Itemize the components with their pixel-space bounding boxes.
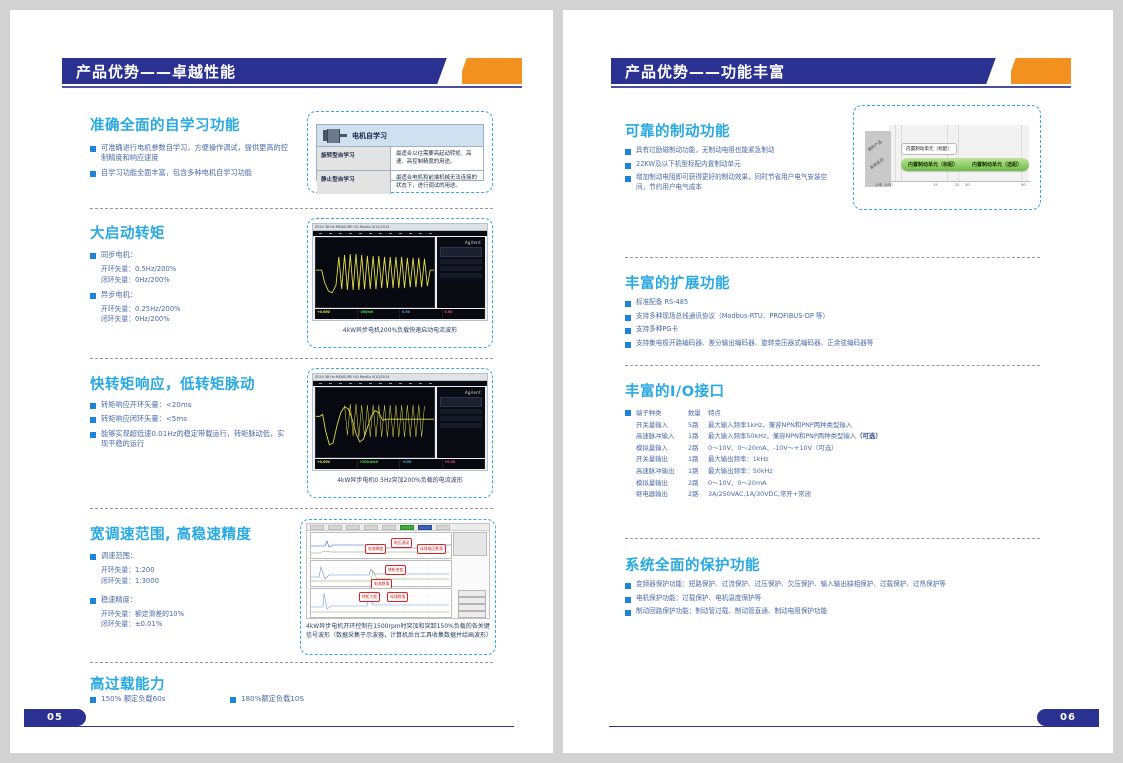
figure-caption-software-capture: 4kW异步电机开环控制在1500rpm时突加和突卸150%负载的各关键信号波形（… (306, 622, 490, 640)
bullet-square-icon (90, 598, 96, 604)
section-divider (90, 208, 493, 209)
bullet-text: 180%额定负载10S (241, 694, 304, 704)
bullet-square-icon (625, 583, 631, 589)
bullets-self-learning: 可准确进行电机参数自学习，方便操作调试，提供更高的控制精度和响应速度 自学习功能… (90, 143, 295, 182)
bullet-text: 转矩响应闭环矢量：<5ms (101, 414, 187, 424)
row-name: 旋转型自学习 (317, 147, 391, 170)
scope-measure-box (440, 247, 482, 257)
section-divider (90, 358, 493, 359)
left-page-header: 产品优势——卓越性能 (62, 58, 522, 84)
sub-line: 开环矢量：0.5Hz/200% (101, 264, 290, 274)
io-qty: 1路 (688, 431, 708, 440)
x-axis-title: 功率（kW） (875, 183, 895, 188)
x-tick-label: 22 (955, 183, 960, 187)
io-spec-text: 最大输入频率50kHz，兼容NPN和PNP两种类型输入 (708, 432, 856, 440)
software-button[interactable] (458, 611, 486, 618)
page-number-left: 05 (24, 709, 86, 726)
annotation-label: 转矩力矩 (359, 592, 380, 602)
annotation-label: 母线电压跌落 (417, 544, 446, 554)
list-item: 具有过励磁制动功能，无制动电阻也能紧急制动 (625, 146, 840, 156)
io-table-row: 开关量输出 1路 最大输出频率：1kHz (636, 454, 955, 463)
scope-channel-2: +200.0mV (358, 459, 401, 469)
io-qty: 2路 (688, 443, 708, 452)
io-type: 模拟量输出 (636, 478, 688, 487)
bullet-text: 转矩响应开环矢量：<20ms (101, 400, 192, 410)
sub-line: 闭环矢量：1:3000 (101, 576, 290, 586)
section-title-io: 丰富的I/O接口 (625, 380, 725, 401)
io-spec-note: （可选） (856, 432, 882, 440)
list-item: 异步电机： (90, 290, 290, 300)
bullet-text: 22KW及以下机型标配内置制动单元 (636, 160, 741, 170)
annotation-label: 电流瞬变 (365, 544, 386, 554)
table-header-row: 电机自学习 (317, 125, 483, 147)
bullet-square-icon (625, 328, 631, 334)
left-header-underline (62, 86, 522, 88)
bullet-text: 可准确进行电机参数自学习，方便操作调试，提供更高的控制精度和响应速度 (101, 143, 295, 164)
bullet-square-icon (90, 697, 96, 703)
io-header-qty: 数量 (688, 408, 708, 417)
sub-line: 闭环矢量：0Hz/200% (101, 314, 290, 324)
annotation-label: 电压波动 (391, 538, 412, 548)
sub-line: 闭环矢量：0Hz/200% (101, 275, 290, 285)
bullets-braking: 具有过励磁制动功能，无制动电阻也能紧急制动 22KW及以下机型标配内置制动单元 … (625, 146, 840, 196)
bullets-protection: 变频器保护功能：短路保护、过流保护、过压保护、欠压保护、输入输出缺相保护、过载保… (625, 580, 1045, 621)
bullet-square-icon (625, 597, 631, 603)
list-item: 可准确进行电机参数自学习，方便操作调试，提供更高的控制精度和响应速度 (90, 143, 295, 164)
io-qty: 5路 (688, 420, 708, 429)
bullet-square-icon (90, 171, 96, 177)
bullet-text: 能够实现超低速0.01Hz的稳定带载运行，转矩脉动低，实现平稳的运行 (101, 429, 290, 450)
gridline (895, 125, 896, 181)
bullet-square-icon (90, 146, 96, 152)
io-spec: 0～10V、0～20mA、-10V～+10V（可选） (708, 443, 838, 452)
sub-line: 开环矢量：额定滑差的10% (101, 609, 290, 619)
software-button[interactable] (458, 597, 486, 604)
bullet-square-icon (90, 554, 96, 560)
list-item: 同步电机： (90, 250, 290, 260)
io-qty: 2路 (688, 489, 708, 498)
bullet-text: 变频器保护功能：短路保护、过流保护、过压保护、欠压保护、输入输出缺相保护、过载保… (636, 580, 946, 590)
plot-area-3 (310, 588, 452, 618)
io-table-row: 开关量输入 5路 最大输入频率1kHz，兼容NPN和PNP两种类型输入 (636, 420, 955, 429)
group-label: 稳速精度： (101, 595, 137, 605)
section-divider (625, 365, 1040, 366)
io-header-spec: 特点 (708, 408, 721, 417)
bullet-square-icon (625, 315, 631, 321)
section-title-self-learning: 准确全面的自学习功能 (90, 114, 240, 135)
section-title-braking: 可靠的制动功能 (625, 120, 730, 141)
io-spec: 最大输出频率：1kHz (708, 454, 769, 463)
list-item: 22KW及以下机型标配内置制动单元 (625, 160, 840, 170)
list-item: 自学习功能全面丰富，包含多种电机自学习功能 (90, 168, 295, 178)
section-title-starting-torque: 大启动转矩 (90, 222, 165, 243)
list-item: 变频器保护功能：短路保护、过流保护、过压保护、欠压保护、输入输出缺相保护、过载保… (625, 580, 1045, 590)
scope-waveform-grid (315, 387, 435, 458)
bullets-torque-response: 转矩响应开环矢量：<20ms 转矩响应闭环矢量：<5ms 能够实现超低速0.01… (90, 400, 290, 454)
section-divider (625, 538, 1040, 539)
software-waveform-capture: 电流瞬变 电压波动 母线电压跌落 转矩突变 电流跌落 (306, 523, 490, 619)
group-label: 调速范围： (101, 551, 137, 561)
oscilloscope-screenshot-2: Z014 38 Hz MEASURE HQ MeaSu II/10/2014 A… (312, 373, 488, 471)
list-item: 能够实现超低速0.01Hz的稳定带载运行，转矩脉动低，实现平稳的运行 (90, 429, 290, 450)
io-table-row: 模拟量输入 2路 0～10V、0～20mA、-10V～+10V（可选） (636, 443, 955, 452)
group-label: 同步电机： (101, 250, 137, 260)
io-type: 模拟量输入 (636, 443, 688, 452)
section-divider (625, 257, 1040, 258)
annotation-label: 母线跌落 (387, 592, 408, 602)
bullets-overload: 150% 额定负载60s 180%额定负载10S (90, 694, 420, 708)
gridline (1021, 125, 1022, 181)
table-row: 旋转型自学习 最适合以往需要高起动转矩、高速、高控制精度的用途。 (317, 147, 483, 171)
right-page-header: 产品优势——功能丰富 (611, 58, 1071, 84)
io-spec: 最大输入频率1kHz，兼容NPN和PNP两种类型输入 (708, 420, 852, 429)
scope-menubar (313, 381, 487, 386)
header-orange-block (462, 58, 522, 84)
software-toolbar (307, 524, 489, 531)
scope-channel-1: +0.00V (315, 309, 358, 319)
bullet-square-icon (625, 610, 631, 616)
bullet-square-icon (90, 417, 96, 423)
scope-channel-4: 0.0V (443, 309, 486, 319)
list-item: 转矩响应开环矢量：<20ms (90, 400, 290, 410)
section-divider (90, 508, 493, 509)
left-header-title: 产品优势——卓越性能 (76, 61, 236, 82)
scope-channel-4: +0.0V (443, 459, 486, 469)
bullet-square-icon (90, 432, 96, 438)
table-row: 静止型自学习 最适合电机和前端机械无法连接的状态下，进行调试的用途。 (317, 171, 483, 194)
brake-unit-tag: 内置制动单元（标配） (901, 143, 957, 155)
list-item: 支持多种现场总线通讯协议（Modbus-RTU、PROFIBUS-DP 等） (625, 312, 945, 322)
scope-brand-label: Agilent (437, 237, 485, 245)
bullet-text: 标准配备 RS-485 (636, 298, 688, 308)
scope-measure-box (440, 273, 482, 278)
io-spec: 3A/250VAC,1A/30VDC,常开+常闭 (708, 489, 811, 498)
scope-titlebar: Z014 38 Hz MEASURE HQ MeaSu II/12/2014 (313, 224, 487, 231)
list-item: 180%额定负载10S (230, 694, 304, 704)
scope-measure-box (440, 416, 482, 421)
x-tick-label: 15 (933, 183, 938, 187)
scope-channel-1: +0.00V (315, 459, 358, 469)
bullets-speed-range: 调速范围： 开环矢量：1:200 闭环矢量：1:3000 稳速精度： 开环矢量：… (90, 551, 290, 630)
row-description: 最适合电机和前端机械无法连接的状态下，进行调试的用途。 (391, 171, 483, 194)
software-button[interactable] (458, 590, 486, 597)
scope-side-panel: Agilent (437, 387, 485, 458)
bullet-square-icon (625, 342, 631, 348)
x-tick-label: 90 (1021, 183, 1026, 187)
scope-measure-box (440, 259, 482, 264)
right-header-underline (611, 86, 1071, 88)
io-table-row: 继电器输出 2路 3A/250VAC,1A/30VDC,常开+常闭 (636, 489, 955, 498)
bar-label-optional: 内置制动单元（选配） (972, 161, 1022, 168)
list-item: 调速范围： (90, 551, 290, 561)
list-item: 电机保护功能：过载保护、电机温度保护等 (625, 594, 1045, 604)
x-axis (889, 181, 1031, 182)
bullet-text: 增加制动电阻即可获得更好的制动效果，同时节省用户电气安装空间，节约用户电气成本 (636, 173, 840, 192)
scope-titlebar: Z014 38 Hz MEASURE HQ MeaSu II/10/2014 (313, 374, 487, 381)
scope-measure-box (440, 409, 482, 414)
left-footer-line (24, 726, 514, 727)
scope-channel-3: 0.0V (400, 309, 443, 319)
page-number-label: 05 (47, 712, 63, 723)
bullet-text: 电机保护功能：过载保护、电机温度保护等 (636, 594, 761, 604)
brake-unit-bar: 内置制动单元（标配） 内置制动单元（选配） (901, 158, 1029, 171)
scope-channel-2: -200mV (358, 309, 401, 319)
io-spec: 最大输入频率50kHz，兼容NPN和PNP两种类型输入（可选） (708, 431, 882, 440)
x-tick-label: 30 (965, 183, 970, 187)
io-qty: 2路 (688, 478, 708, 487)
io-type: 继电器输出 (636, 489, 688, 498)
sub-line: 开环矢量：0.25Hz/200% (101, 304, 290, 314)
bullet-square-icon (230, 697, 236, 703)
section-title-expansion: 丰富的扩展功能 (625, 272, 730, 293)
bullet-square-icon (90, 293, 96, 299)
section-divider (90, 662, 493, 663)
list-item: 稳速精度： (90, 595, 290, 605)
io-table-row: 高速脉冲输出 1路 最大输出频率：50kHz (636, 466, 955, 475)
io-qty: 1路 (688, 454, 708, 463)
list-item: 标准配备 RS-485 (625, 298, 945, 308)
page-number-right: 06 (1037, 709, 1099, 726)
brochure-spread: 产品优势——卓越性能 准确全面的自学习功能 可准确进行电机参数自学习，方便操作调… (0, 0, 1123, 763)
bullets-starting-torque: 同步电机： 开环矢量：0.5Hz/200% 闭环矢量：0Hz/200% 异步电机… (90, 250, 290, 325)
section-title-protection: 系统全面的保护功能 (625, 554, 760, 575)
oscilloscope-screenshot-1: Z014 38 Hz MEASURE HQ MeaSu II/12/2014 A… (312, 223, 488, 321)
bullet-text: 具有过励磁制动功能，无制动电阻也能紧急制动 (636, 146, 774, 156)
right-header-title: 产品优势——功能丰富 (625, 61, 785, 82)
scope-channel-3: -0.0V (400, 459, 443, 469)
software-side-panel (453, 532, 487, 556)
bullet-text: 150% 额定负载60s (101, 694, 165, 704)
right-footer-line (609, 726, 1099, 727)
list-item: 支持多种PG卡 (625, 325, 945, 335)
io-qty: 1路 (688, 466, 708, 475)
io-table: 端子种类 数量 特点 开关量输入 5路 最大输入频率1kHz，兼容NPN和PNP… (625, 408, 955, 501)
scope-waveform-grid (315, 237, 435, 308)
section-title-overload: 高过载能力 (90, 673, 165, 694)
software-button[interactable] (458, 604, 486, 611)
group-label: 异步电机： (101, 290, 137, 300)
io-table-header: 端子种类 数量 特点 (625, 408, 955, 417)
header-orange-block (1011, 58, 1071, 84)
bullet-text: 支持集电极开路编码器、差分输出编码器、旋转变压器式编码器、正余弦编码器等 (636, 339, 873, 349)
scope-channel-bar: +0.00V -200mV 0.0V 0.0V (315, 309, 485, 319)
list-item: 转矩响应闭环矢量：<5ms (90, 414, 290, 424)
list-item: 增加制动电阻即可获得更好的制动效果，同时节省用户电气安装空间，节约用户电气成本 (625, 173, 840, 192)
scope-side-panel: Agilent (437, 237, 485, 308)
bullet-square-icon (625, 410, 631, 416)
io-table-row: 高速脉冲输入 1路 最大输入频率50kHz，兼容NPN和PNP两种类型输入（可选… (636, 431, 955, 440)
io-table-row: 模拟量输出 2路 0～10V、0～20mA (636, 478, 955, 487)
io-spec: 0～10V、0～20mA (708, 478, 767, 487)
row-name: 静止型自学习 (317, 171, 391, 194)
list-item: 150% 额定负载60s (90, 694, 230, 704)
list-item: 制动回路保护功能：制动管过载、制动管直通、制动电阻保护功能 (625, 607, 1045, 617)
scope-measure-box (440, 423, 482, 428)
bullets-expansion: 标准配备 RS-485 支持多种现场总线通讯协议（Modbus-RTU、PROF… (625, 298, 945, 352)
section-title-torque-response: 快转矩响应，低转矩脉动 (90, 373, 255, 394)
brake-unit-chart: 我的产品 友商系列 内置制动单元（标配） 内置制动单元（标配） 内置制动单元（选… (861, 125, 1033, 193)
scope-measure-box (440, 266, 482, 271)
scope-brand-label: Agilent (437, 387, 485, 395)
bullet-square-icon (625, 301, 631, 307)
sub-line: 闭环矢量：±0.01% (101, 619, 290, 629)
section-title-speed-range: 宽调速范围, 高稳速精度 (90, 523, 252, 544)
figure-caption-scope-1: 4kW异步电机200%负载快速启动电流波形 (312, 326, 488, 335)
sub-line: 开环矢量：1:200 (101, 565, 290, 575)
bullet-square-icon (90, 403, 96, 409)
io-spec: 最大输出频率：50kHz (708, 466, 773, 475)
io-type: 开关量输出 (636, 454, 688, 463)
figure-caption-scope-2: 4kW异步电机0.5Hz突加200%负载的电流波形 (312, 476, 488, 485)
bar-label-standard: 内置制动单元（标配） (908, 161, 958, 168)
bullet-square-icon (625, 149, 631, 155)
io-type: 开关量输入 (636, 420, 688, 429)
motor-icon (323, 129, 347, 143)
bullet-square-icon (625, 176, 631, 182)
io-type: 高速脉冲输出 (636, 466, 688, 475)
annotation-label: 转矩突变 (385, 565, 406, 575)
page-number-label: 06 (1060, 712, 1076, 723)
bullet-text: 制动回路保护功能：制动管过载、制动管直通、制动电阻保护功能 (636, 607, 827, 617)
right-page: 产品优势——功能丰富 可靠的制动功能 具有过励磁制动功能，无制动电阻也能紧急制动… (563, 10, 1113, 753)
scope-channel-bar: +0.00V +200.0mV -0.0V +0.0V (315, 459, 485, 469)
io-type: 高速脉冲输入 (636, 431, 688, 440)
list-item: 支持集电极开路编码器、差分输出编码器、旋转变压器式编码器、正余弦编码器等 (625, 339, 895, 349)
bullet-square-icon (625, 163, 631, 169)
left-page: 产品优势——卓越性能 准确全面的自学习功能 可准确进行电机参数自学习，方便操作调… (10, 10, 553, 753)
bullet-text: 自学习功能全面丰富，包含多种电机自学习功能 (101, 168, 252, 178)
table-header-label: 电机自学习 (352, 131, 387, 141)
bullet-text: 支持多种现场总线通讯协议（Modbus-RTU、PROFIBUS-DP 等） (636, 312, 829, 322)
scope-menubar (313, 231, 487, 236)
bullet-square-icon (90, 253, 96, 259)
scope-measure-box (440, 397, 482, 407)
motor-self-learning-table: 电机自学习 旋转型自学习 最适合以往需要高起动转矩、高速、高控制精度的用途。 静… (316, 124, 484, 181)
io-header-type: 端子种类 (636, 408, 688, 417)
bullet-text: 支持多种PG卡 (636, 325, 678, 335)
gridline (958, 125, 959, 181)
row-description: 最适合以往需要高起动转矩、高速、高控制精度的用途。 (391, 147, 483, 170)
